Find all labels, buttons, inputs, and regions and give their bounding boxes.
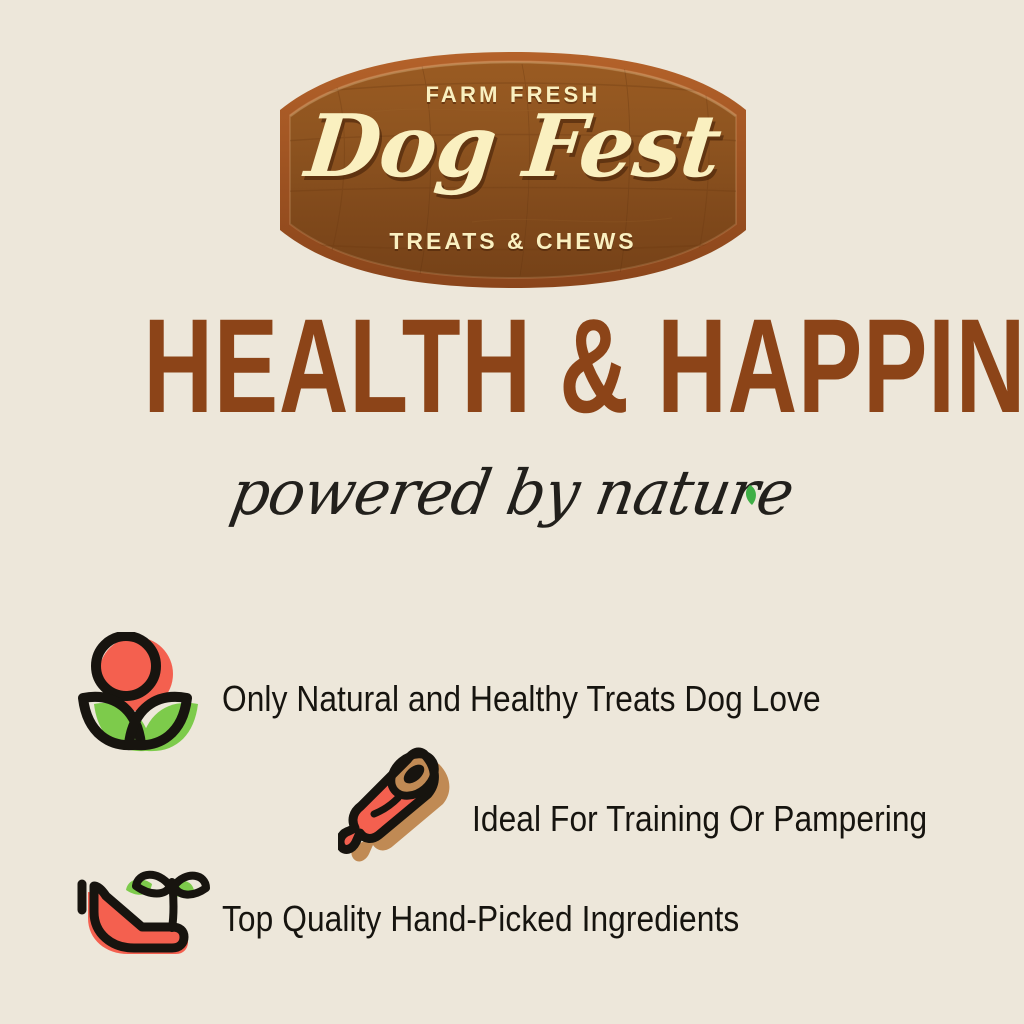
feature-label: Top Quality Hand-Picked Ingredients [222,898,739,940]
feature-label: Only Natural and Healthy Treats Dog Love [222,678,821,720]
poster-canvas: FARM FRESH Dog Fest TREATS & CHEWS HEALT… [0,0,1024,1024]
ham-bone-icon [338,742,472,870]
feature-label: Ideal For Training Or Pampering [472,798,927,840]
brand-logo: FARM FRESH Dog Fest TREATS & CHEWS [272,52,754,288]
tagline-container: powered by nature [0,462,1024,524]
wooden-sign-shape [272,52,754,288]
hand-sprout-icon [72,862,222,962]
leaf-icon [741,484,759,508]
flower-icon [74,632,214,760]
tagline: powered by nature [226,462,798,524]
headline: HEALTH & HAPPINESS [143,300,880,434]
hand-sprout-row: Top Quality Hand-Picked Ingredients [0,862,1024,972]
feature-row: Ideal For Training Or Pampering [0,742,1024,872]
